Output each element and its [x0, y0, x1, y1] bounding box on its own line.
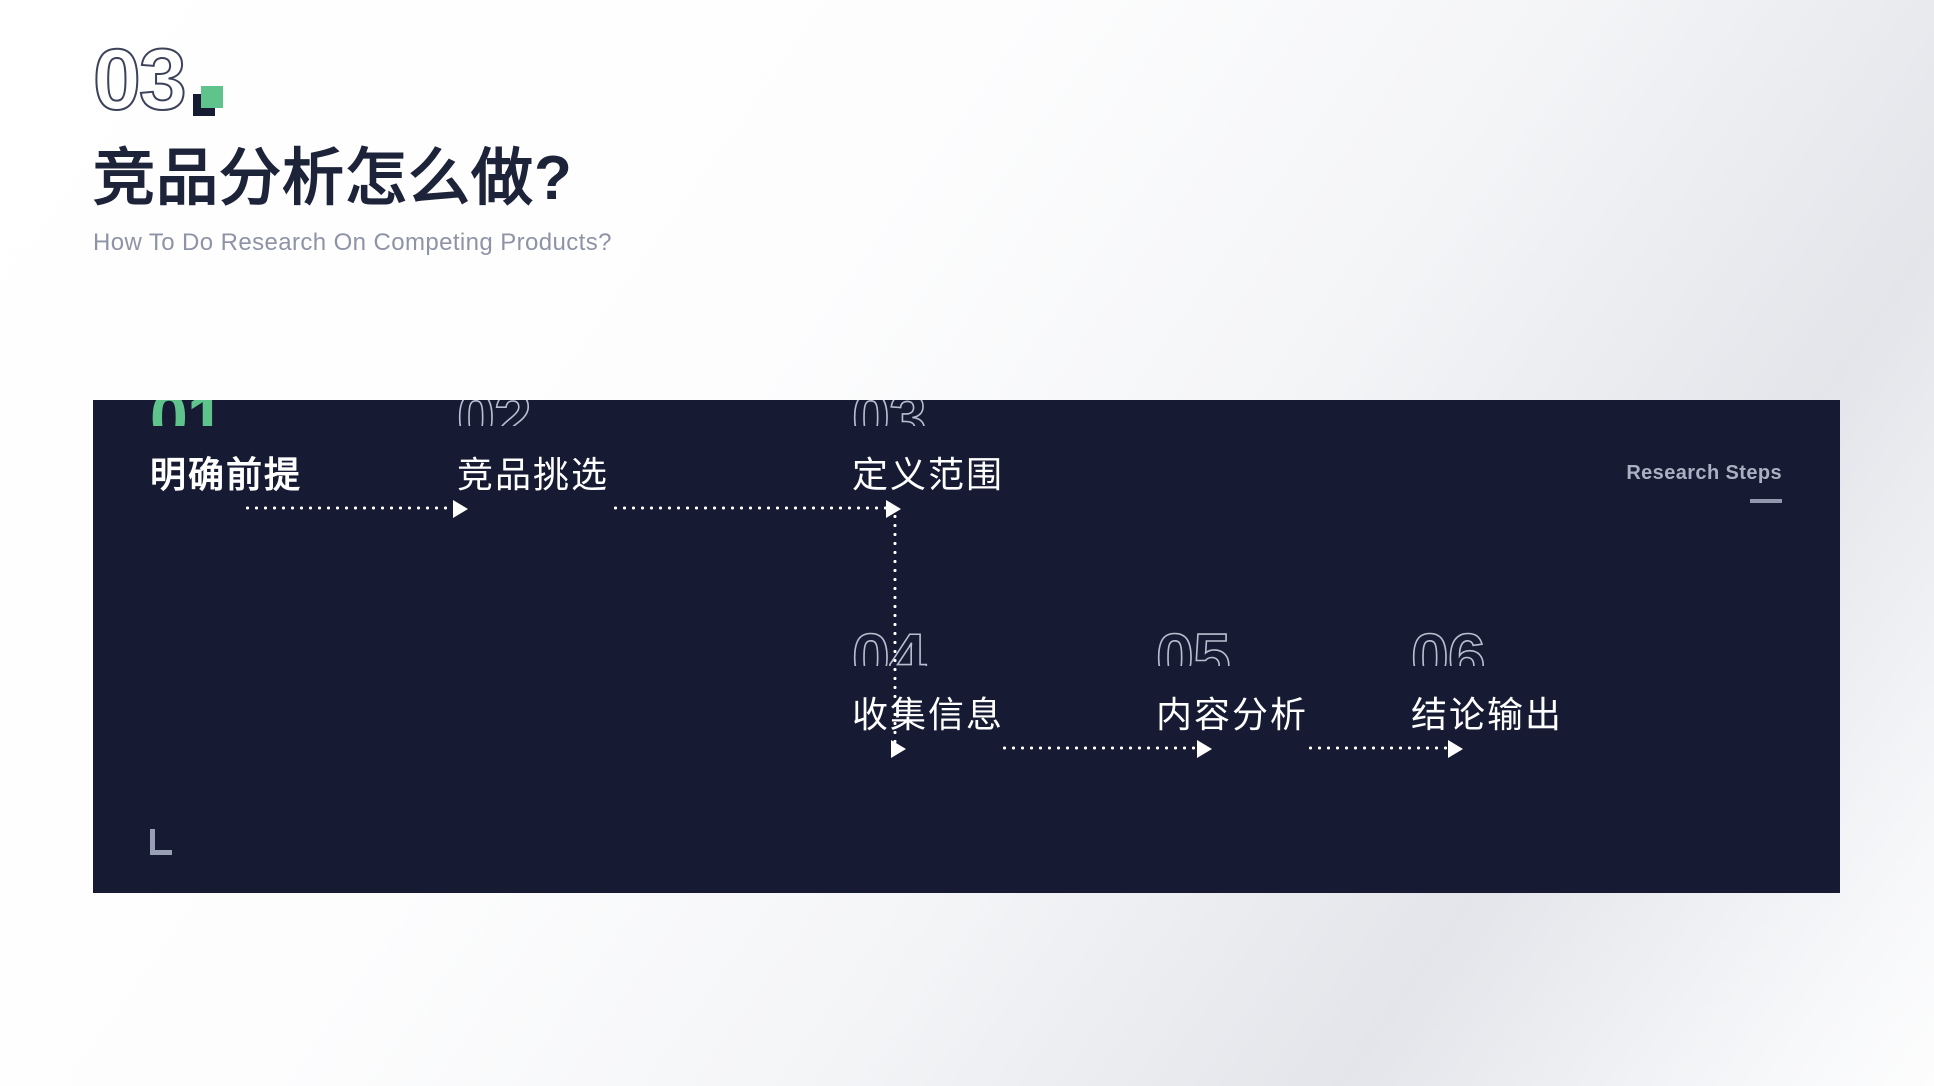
panel-label-underline — [1750, 499, 1782, 503]
step-number-02: 02 — [457, 400, 609, 426]
page-subtitle: How To Do Research On Competing Products… — [93, 229, 1193, 257]
arrow-04-to-05-icon — [1197, 740, 1212, 758]
step-label-04: 收集信息 — [852, 686, 1004, 738]
step-item-06[interactable]: 06 结论输出 — [1411, 632, 1563, 738]
step-item-01[interactable]: 01 明确前提 — [150, 400, 302, 498]
step-number-04: 04 — [852, 632, 1004, 666]
arrow-01-to-02-icon — [453, 500, 468, 518]
connector-01-to-02 — [243, 506, 453, 510]
corner-bracket-icon — [150, 829, 172, 855]
slide-header: 03 竞品分析怎么做? How To Do Research On Compet… — [93, 36, 1193, 257]
step-item-04[interactable]: 04 收集信息 — [852, 632, 1004, 738]
step-number-01: 01 — [150, 400, 302, 426]
step-item-02[interactable]: 02 竞品挑选 — [457, 400, 609, 498]
step-item-05[interactable]: 05 内容分析 — [1156, 632, 1308, 738]
step-item-03[interactable]: 03 定义范围 — [852, 400, 1004, 498]
step-label-06: 结论输出 — [1411, 686, 1563, 738]
step-label-01: 明确前提 — [150, 446, 302, 498]
page-title: 竞品分析怎么做? — [93, 146, 1193, 211]
step-number-06: 06 — [1411, 632, 1563, 666]
accent-square-green — [201, 86, 223, 108]
section-number: 03 — [93, 40, 185, 122]
step-label-03: 定义范围 — [852, 446, 1004, 498]
panel-label: Research Steps — [1626, 462, 1782, 503]
step-number-03: 03 — [852, 400, 1004, 426]
accent-square-icon — [193, 86, 223, 116]
panel-label-text: Research Steps — [1626, 462, 1782, 485]
connector-02-to-03 — [611, 506, 889, 510]
connector-05-to-06 — [1306, 746, 1448, 750]
section-number-row: 03 — [93, 36, 1193, 122]
connector-03-to-04 — [893, 512, 897, 746]
arrow-05-to-06-icon — [1448, 740, 1463, 758]
arrow-03-to-04-icon — [891, 740, 906, 758]
step-label-02: 竞品挑选 — [457, 446, 609, 498]
step-number-05: 05 — [1156, 632, 1308, 666]
step-label-05: 内容分析 — [1156, 686, 1308, 738]
connector-04-to-05 — [1000, 746, 1198, 750]
research-steps-panel: Research Steps 01 明确前提 02 竞品挑选 03 定义范围 0… — [93, 400, 1840, 893]
